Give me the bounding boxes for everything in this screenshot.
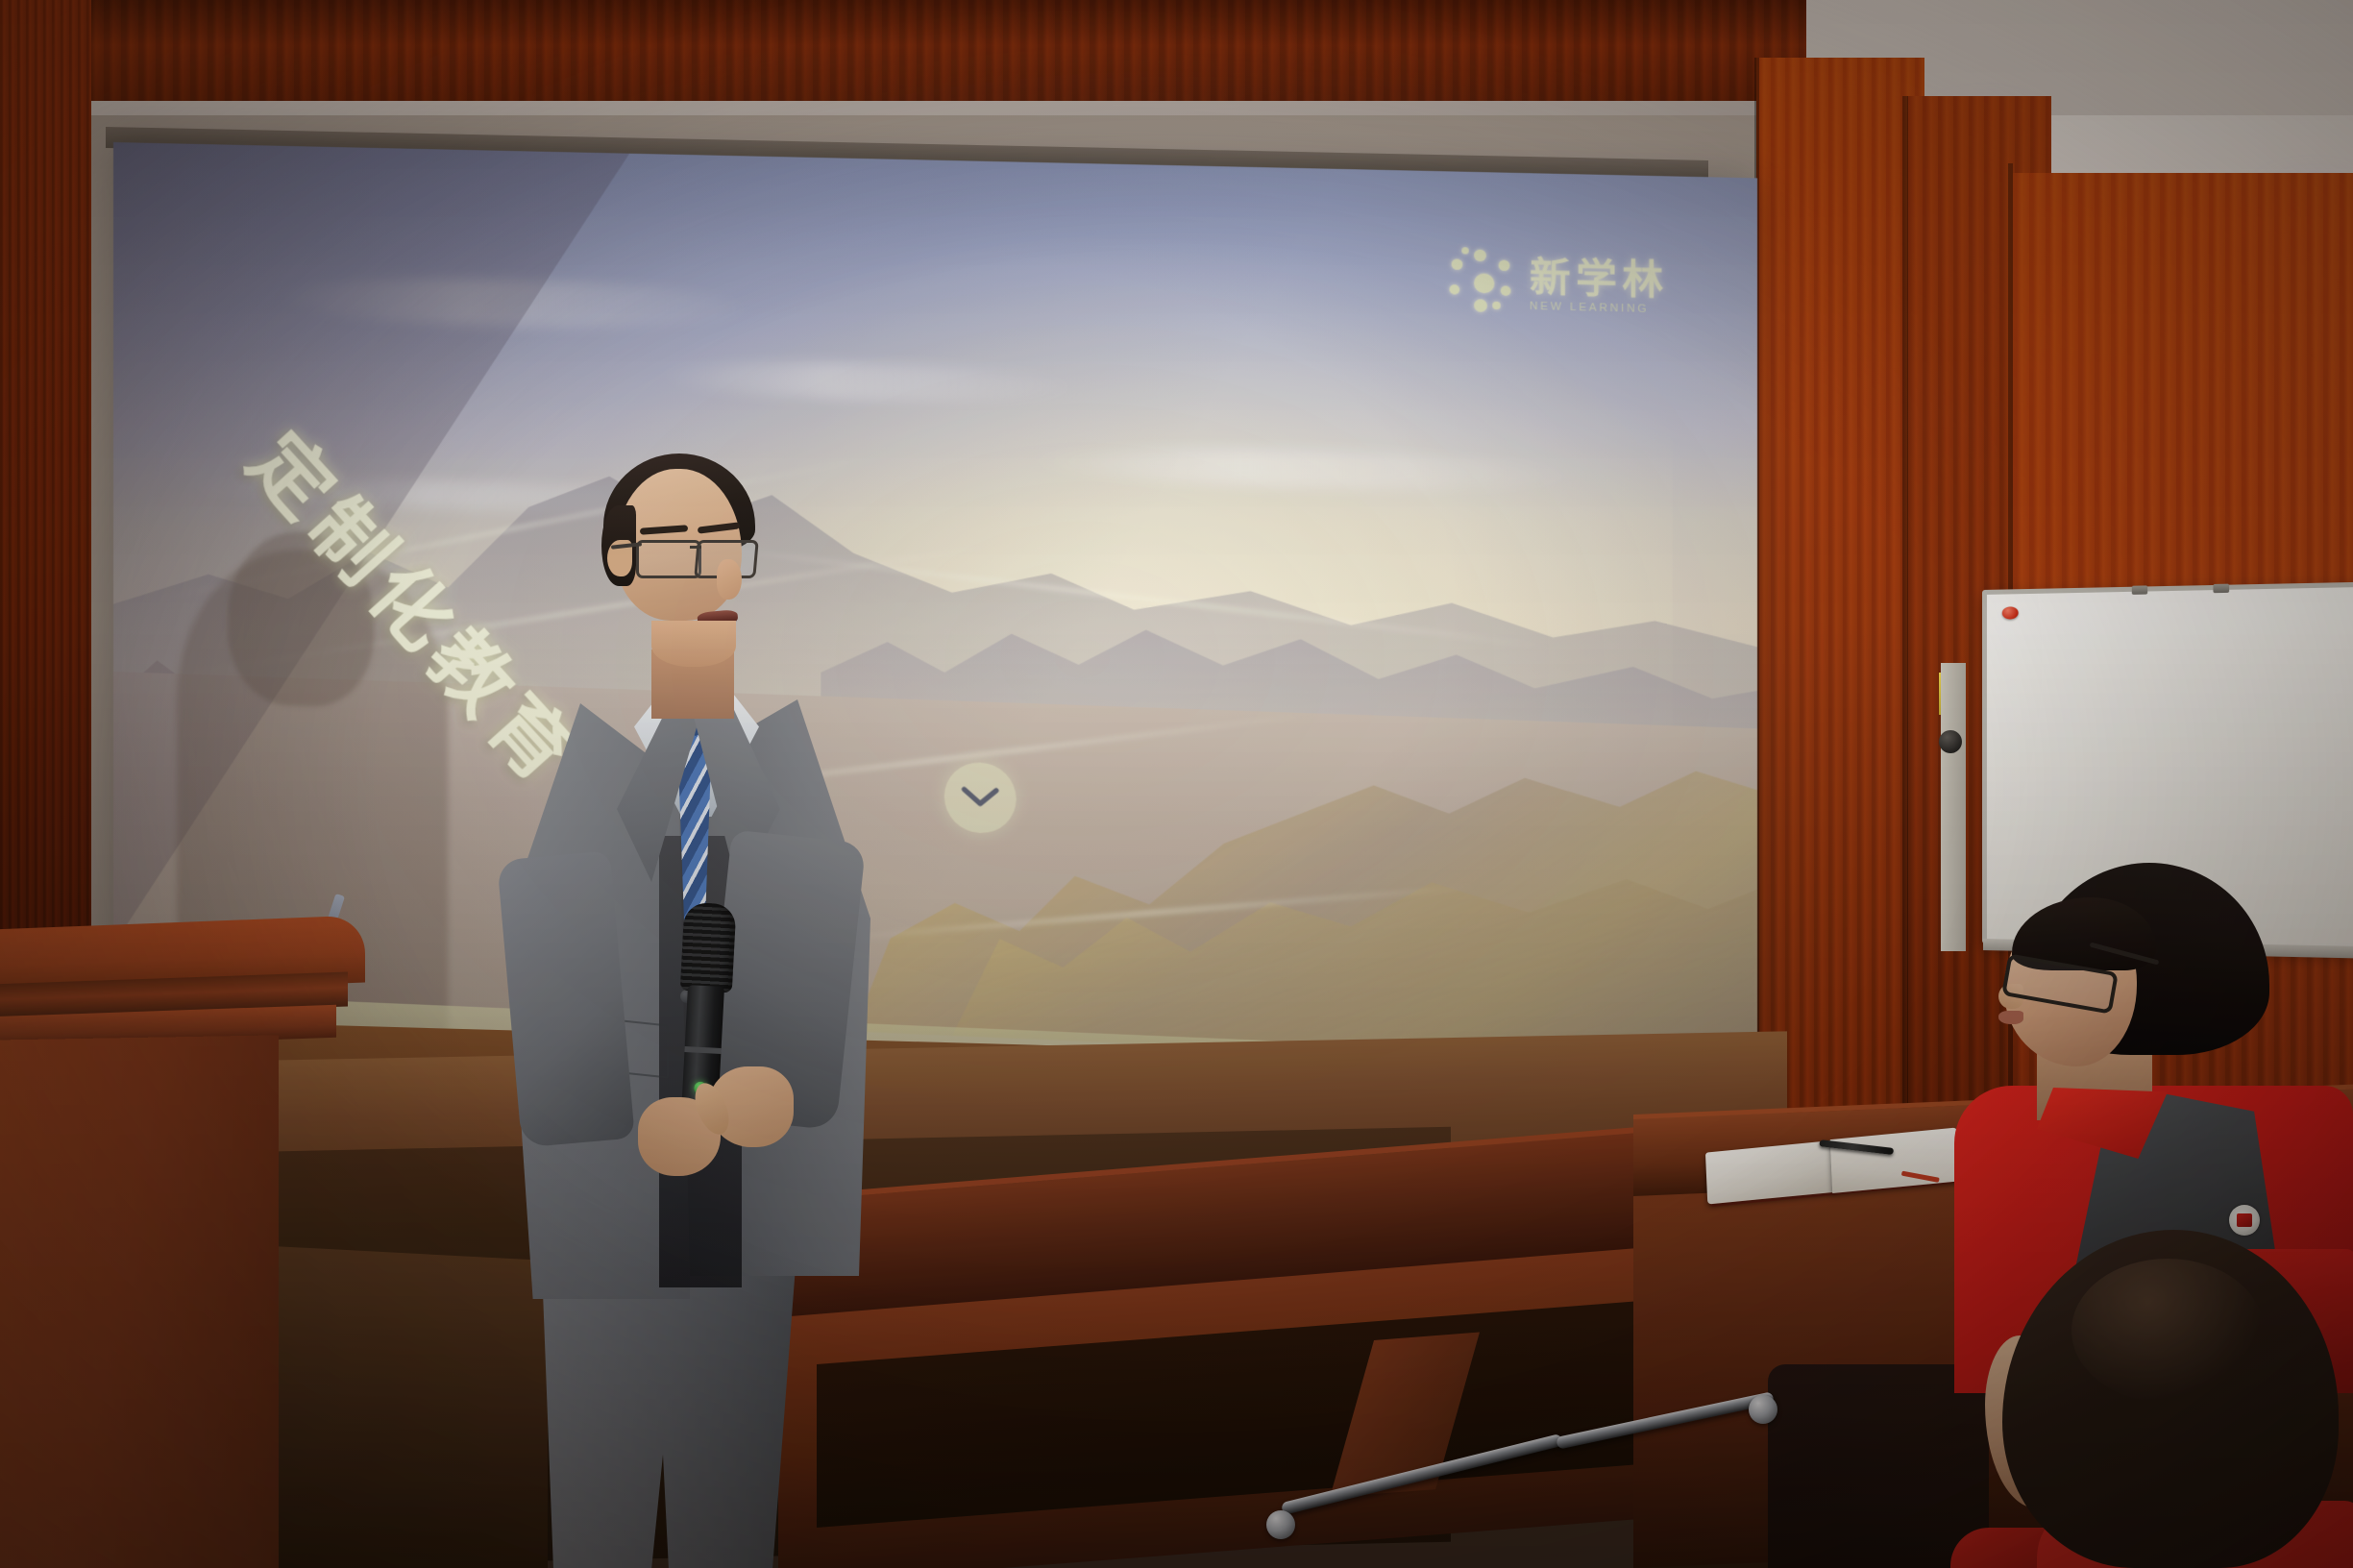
presenter-nose: [717, 559, 742, 600]
lectern: [0, 922, 375, 1568]
presenter-trousers: [525, 1266, 813, 1568]
magnet-icon[interactable]: [2002, 606, 2019, 619]
wall-panel-top: [0, 0, 1806, 101]
whiteboard-clip[interactable]: [2132, 585, 2147, 595]
panel-seam: [1902, 96, 1908, 1172]
presentation-photo: 新学林 NEW LEARNING 定制化教育: [0, 0, 2353, 1568]
attendee-woman: [1979, 1220, 2353, 1568]
whiteboard-clip[interactable]: [2213, 584, 2229, 594]
presenter-chin: [651, 621, 736, 667]
chair-rail-cap: [1749, 1395, 1777, 1424]
microphone-head: [680, 902, 737, 993]
attendee-hair-highlight: [2071, 1259, 2264, 1403]
chair-back[interactable]: [1768, 1364, 1989, 1568]
wall-panel-left: [0, 0, 91, 970]
chair-rail-cap: [1266, 1510, 1295, 1539]
attendee-lips: [1998, 1011, 2023, 1024]
eyeglasses-bridge: [690, 546, 701, 549]
whiteboard-adjust-knob[interactable]: [1939, 730, 1962, 753]
presenter: [490, 452, 874, 1568]
lectern-body: [0, 1035, 279, 1568]
wall-panel-right-column: [1756, 58, 1924, 1172]
